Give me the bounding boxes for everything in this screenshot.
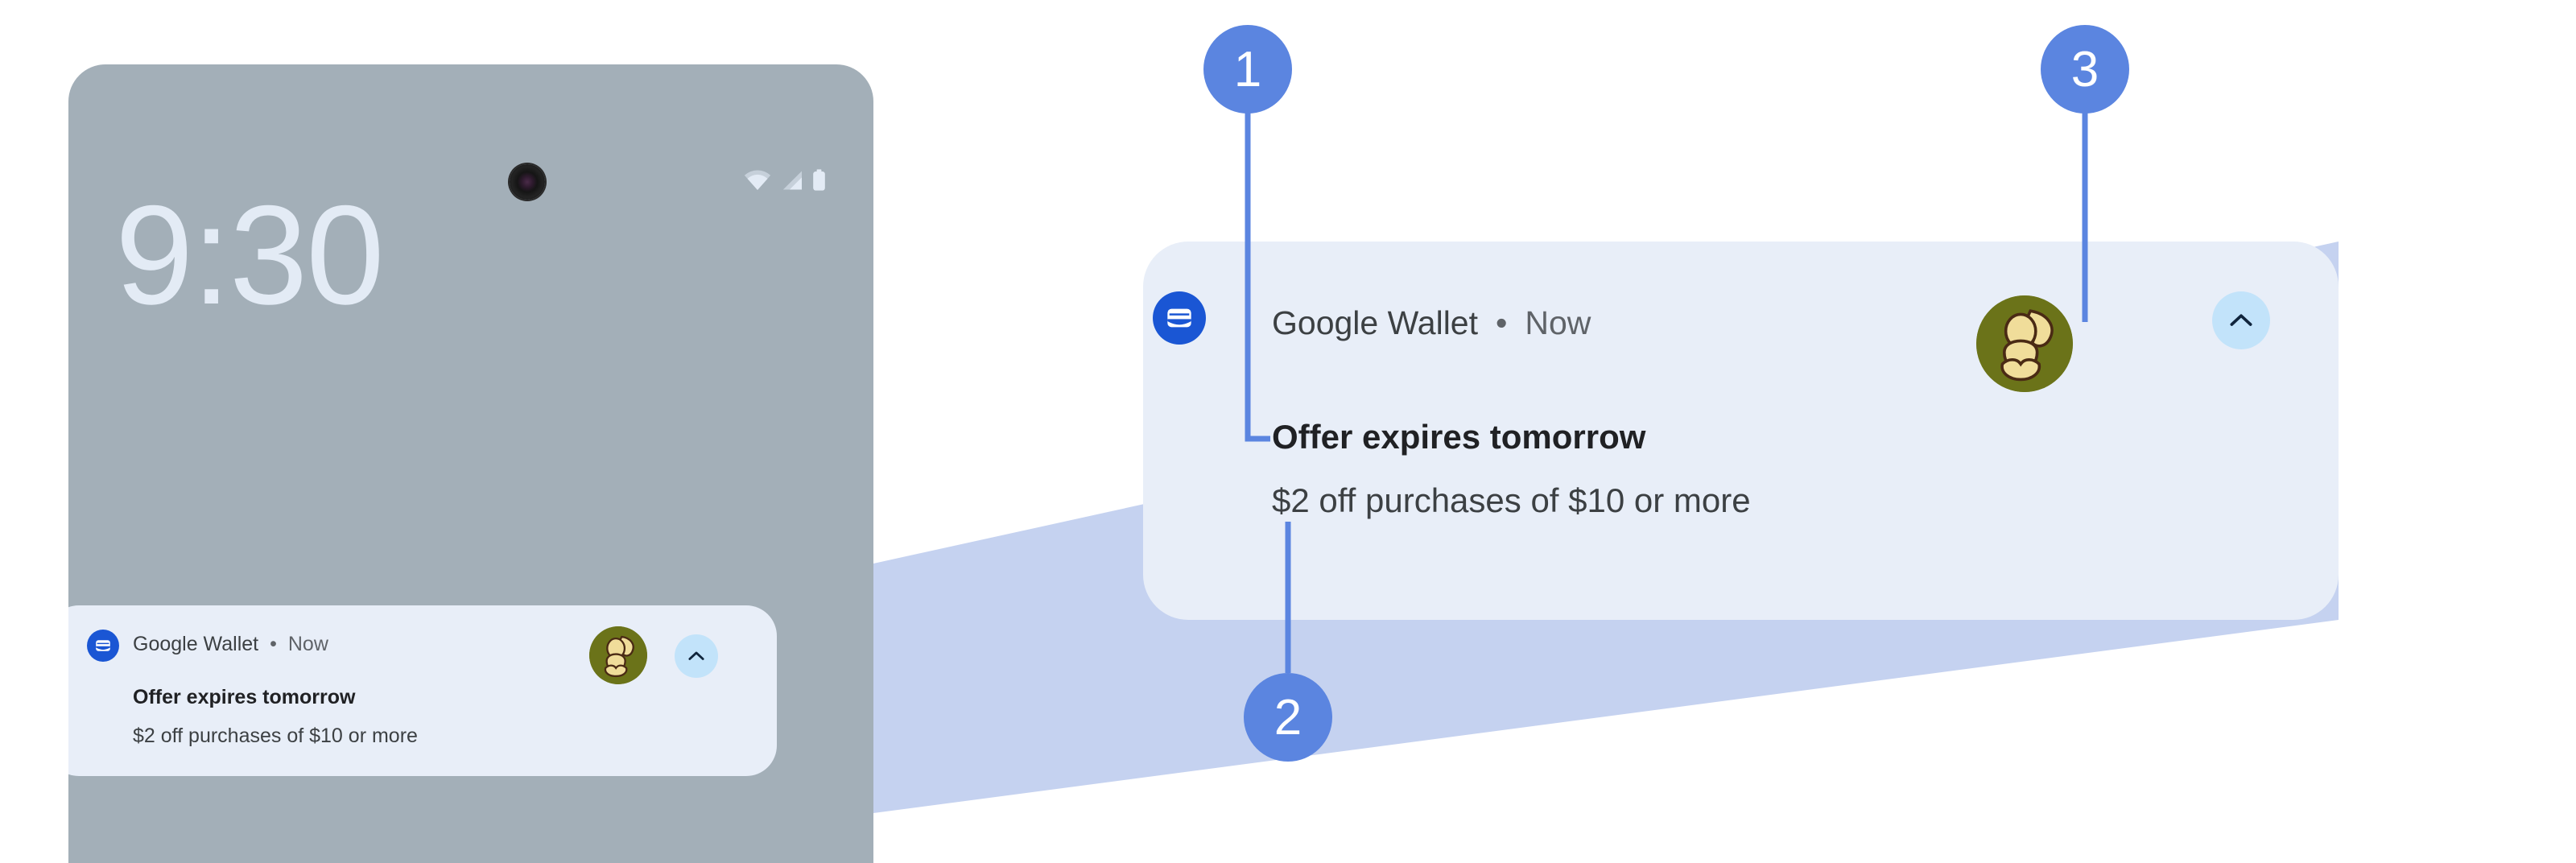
notification-body-small: $2 off purchases of $10 or more [133, 725, 418, 748]
cellular-signal-icon [779, 170, 803, 191]
app-name-label-large: Google Wallet [1272, 304, 1478, 342]
callout-badge-3[interactable]: 3 [2041, 25, 2129, 114]
expand-notification-button-large[interactable] [2212, 291, 2270, 349]
notification-card-small[interactable]: Google Wallet • Now Offer expires tomorr… [68, 605, 777, 776]
timestamp-label: Now [288, 633, 328, 656]
app-name-label: Google Wallet [133, 633, 258, 656]
status-icons [744, 169, 827, 191]
notification-title-large: Offer expires tomorrow [1272, 418, 1645, 456]
merchant-avatar-large [1976, 295, 2073, 392]
callout-badge-1[interactable]: 1 [1203, 25, 1292, 114]
separator-dot-large: • [1496, 304, 1507, 342]
separator-dot: • [270, 633, 277, 656]
battery-icon [811, 169, 827, 191]
chevron-up-icon [685, 645, 708, 667]
notification-body-large: $2 off purchases of $10 or more [1272, 481, 1751, 520]
notification-title-small: Offer expires tomorrow [133, 686, 355, 709]
status-bar [68, 64, 873, 161]
notification-header-large: Google Wallet • Now [1272, 304, 1591, 342]
lock-screen-clock: 9:30 [115, 185, 383, 326]
wifi-icon [744, 170, 771, 191]
google-wallet-icon-large [1153, 291, 1206, 345]
callout-badge-2[interactable]: 2 [1244, 673, 1332, 762]
front-camera-punch-hole-icon [510, 164, 545, 200]
chevron-up-icon-large [2225, 304, 2257, 337]
timestamp-label-large: Now [1525, 304, 1591, 342]
phone-mockup: 9:30 Google Wallet • Now Offer expires t… [68, 64, 873, 863]
expand-notification-button-small[interactable] [675, 634, 718, 678]
scene-root: 9:30 Google Wallet • Now Offer expires t… [0, 0, 2576, 863]
notification-header-small: Google Wallet • Now [133, 633, 328, 656]
google-wallet-icon [87, 630, 119, 662]
merchant-avatar-small [589, 626, 647, 684]
